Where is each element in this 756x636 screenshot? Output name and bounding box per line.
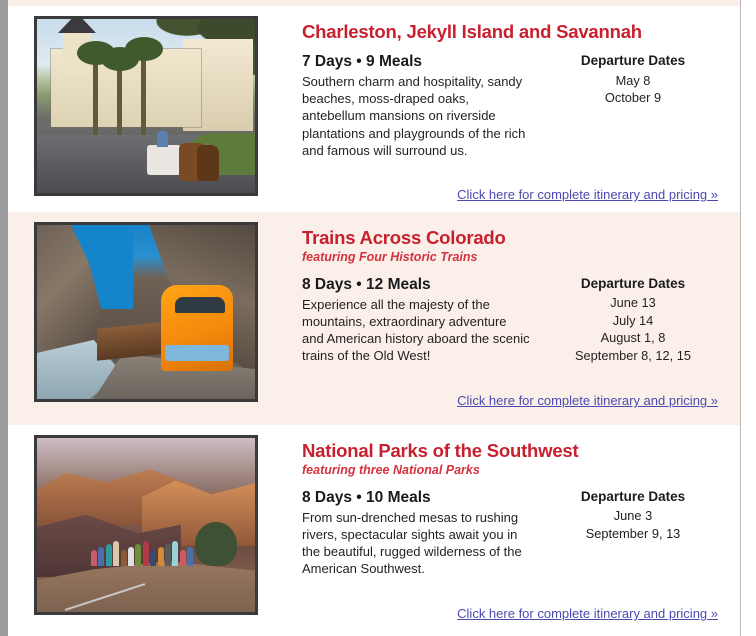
departure-dates-block: Departure Dates May 8 October 9: [530, 53, 730, 159]
tour-subtitle: featuring three National Parks: [302, 463, 730, 477]
departure-dates-block: Departure Dates June 3 September 9, 13: [530, 489, 730, 577]
tour-photo: [34, 435, 258, 615]
departure-dates-heading: Departure Dates: [536, 53, 730, 69]
tour-title: Charleston, Jekyll Island and Savannah: [302, 22, 730, 42]
departure-date: May 8: [536, 72, 730, 90]
days-and-meals: 7 Days • 9 Meals: [302, 53, 530, 71]
tour-listing: Charleston, Jekyll Island and Savannah 7…: [8, 6, 740, 636]
tour-row: Trains Across Colorado featuring Four Hi…: [8, 212, 740, 425]
departure-date: September 8, 12, 15: [536, 347, 730, 365]
itinerary-link[interactable]: Click here for complete itinerary and pr…: [457, 393, 718, 408]
right-gutter: [741, 0, 756, 636]
tour-row: Charleston, Jekyll Island and Savannah 7…: [8, 6, 740, 212]
departure-date: June 13: [536, 294, 730, 312]
tour-description: From sun-drenched mesas to rushing river…: [302, 509, 530, 578]
itinerary-link[interactable]: Click here for complete itinerary and pr…: [457, 187, 718, 202]
tour-row: National Parks of the Southwest featurin…: [8, 425, 740, 636]
tour-title: Trains Across Colorado: [302, 228, 730, 248]
tour-subtitle: featuring Four Historic Trains: [302, 250, 730, 264]
tour-title: National Parks of the Southwest: [302, 441, 730, 461]
days-and-meals: 8 Days • 10 Meals: [302, 489, 530, 507]
tour-description: Experience all the majesty of the mounta…: [302, 296, 530, 365]
tour-description: Southern charm and hospitality, sandy be…: [302, 73, 530, 159]
departure-date: June 3: [536, 507, 730, 525]
tour-photo: [34, 16, 258, 196]
left-gutter: [0, 0, 8, 636]
departure-date: September 9, 13: [536, 525, 730, 543]
departure-dates-heading: Departure Dates: [536, 489, 730, 505]
page-frame: Charleston, Jekyll Island and Savannah 7…: [0, 0, 756, 636]
days-and-meals: 8 Days • 12 Meals: [302, 276, 530, 294]
itinerary-link[interactable]: Click here for complete itinerary and pr…: [457, 606, 718, 621]
departure-date: August 1, 8: [536, 329, 730, 347]
departure-date: July 14: [536, 312, 730, 330]
tour-photo: [34, 222, 258, 402]
departure-dates-block: Departure Dates June 13 July 14 August 1…: [530, 276, 730, 365]
departure-date: October 9: [536, 89, 730, 107]
departure-dates-heading: Departure Dates: [536, 276, 730, 292]
